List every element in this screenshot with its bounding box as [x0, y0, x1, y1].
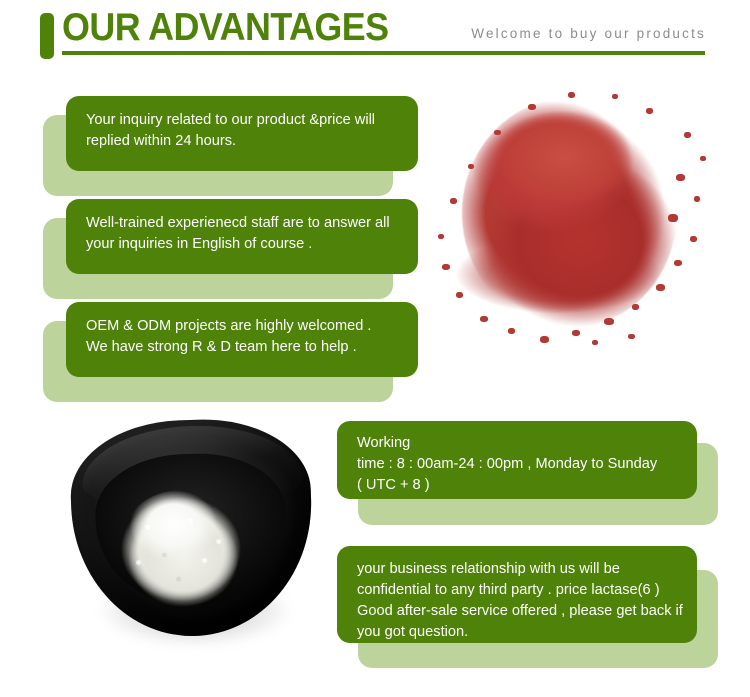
card-body: Your inquiry related to our product &pri… — [66, 96, 418, 171]
red-powder-peak — [484, 86, 644, 206]
powder-speck — [442, 264, 450, 270]
powder-speck — [568, 92, 575, 98]
page-title: OUR ADVANTAGES — [62, 6, 388, 50]
card-body: Well-trained experienecd staff are to an… — [66, 199, 418, 274]
powder-speck — [494, 130, 501, 135]
powder-speck — [508, 328, 515, 334]
advantage-card-oem-odm: OEM & ODM projects are highly welcomed .… — [43, 302, 418, 402]
powder-speck — [694, 196, 700, 202]
powder-speck — [572, 330, 580, 336]
powder-speck — [612, 94, 618, 99]
powder-speck — [604, 318, 614, 325]
powder-speck — [528, 104, 536, 110]
card-body: OEM & ODM projects are highly welcomed .… — [66, 302, 418, 377]
header-underline — [62, 51, 705, 55]
card-text: your business relationship with us will … — [357, 559, 683, 643]
powder-speck — [540, 336, 549, 343]
card-text: OEM & ODM projects are highly welcomed .… — [86, 316, 404, 358]
black-bowl-image — [52, 412, 342, 674]
card-text: Well-trained experienecd staff are to an… — [86, 213, 404, 255]
red-powder-image — [432, 78, 732, 403]
powder-speck — [450, 198, 457, 204]
advantage-card-trained-staff: Well-trained experienecd staff are to an… — [43, 199, 418, 299]
page-header: OUR ADVANTAGES Welcome to buy our produc… — [0, 0, 750, 72]
advantages-page: OUR ADVANTAGES Welcome to buy our produc… — [0, 0, 750, 697]
header-accent-bar — [40, 13, 54, 59]
advantage-card-working-time: Working time : 8 : 00am-24 : 00pm , Mond… — [337, 421, 718, 525]
powder-speck — [690, 236, 697, 242]
white-powder-texture — [122, 498, 240, 602]
powder-speck — [676, 174, 685, 181]
powder-speck — [700, 156, 706, 161]
powder-speck — [668, 214, 678, 222]
card-text: Your inquiry related to our product &pri… — [86, 110, 404, 152]
powder-speck — [674, 260, 682, 266]
header-tagline: Welcome to buy our products — [471, 26, 706, 41]
powder-speck — [456, 292, 463, 298]
advantage-card-inquiry-response: Your inquiry related to our product &pri… — [43, 96, 418, 196]
card-text: Working time : 8 : 00am-24 : 00pm , Mond… — [357, 433, 683, 496]
powder-speck — [632, 304, 639, 310]
powder-speck — [438, 234, 444, 239]
powder-speck — [628, 334, 635, 339]
powder-speck — [684, 132, 691, 138]
card-body: Working time : 8 : 00am-24 : 00pm , Mond… — [337, 421, 697, 499]
powder-speck — [480, 316, 488, 322]
powder-speck — [656, 284, 665, 291]
powder-speck — [468, 164, 474, 169]
card-body: your business relationship with us will … — [337, 546, 697, 643]
advantage-card-confidentiality: your business relationship with us will … — [337, 546, 718, 668]
powder-speck — [646, 108, 653, 114]
powder-speck — [592, 340, 598, 345]
